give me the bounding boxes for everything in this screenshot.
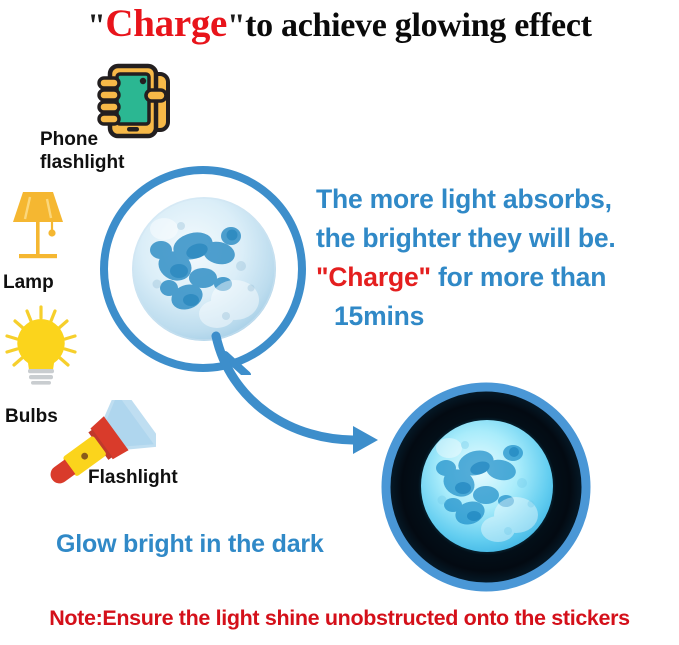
title-quote-open: " bbox=[87, 8, 105, 44]
title-quote-close: " bbox=[227, 8, 245, 44]
moon-sticker-glowing-dark bbox=[418, 417, 556, 555]
instruction-highlight: Charge bbox=[328, 262, 418, 292]
title-highlight: Charge bbox=[105, 2, 227, 45]
page-title: "Charge"to achieve glowing effect bbox=[0, 2, 679, 48]
instruction-quote-open: " bbox=[316, 262, 328, 292]
instruction-line-3: "Charge" for more than bbox=[316, 258, 676, 297]
flashlight-label: Flashlight bbox=[88, 466, 178, 489]
lamp-label: Lamp bbox=[3, 271, 54, 294]
lamp-icon bbox=[5, 188, 71, 266]
instruction-text: The more light absorbs, the brighter the… bbox=[316, 180, 676, 336]
instruction-line-3-rest: for more than bbox=[431, 262, 606, 292]
instruction-line-2: the brighter they will be. bbox=[316, 219, 676, 258]
glow-caption: Glow bright in the dark bbox=[56, 530, 324, 559]
bottom-note: Note:Ensure the light shine unobstructed… bbox=[0, 606, 679, 631]
instruction-line-4: 15mins bbox=[316, 297, 676, 336]
infographic-canvas: "Charge"to achieve glowing effect Phone … bbox=[0, 0, 679, 645]
title-rest: to achieve glowing effect bbox=[245, 7, 592, 44]
moon-sticker-daylight bbox=[131, 196, 277, 342]
instruction-line-1: The more light absorbs, bbox=[316, 180, 676, 219]
bulb-icon bbox=[2, 305, 80, 385]
instruction-quote-close: " bbox=[418, 262, 430, 292]
